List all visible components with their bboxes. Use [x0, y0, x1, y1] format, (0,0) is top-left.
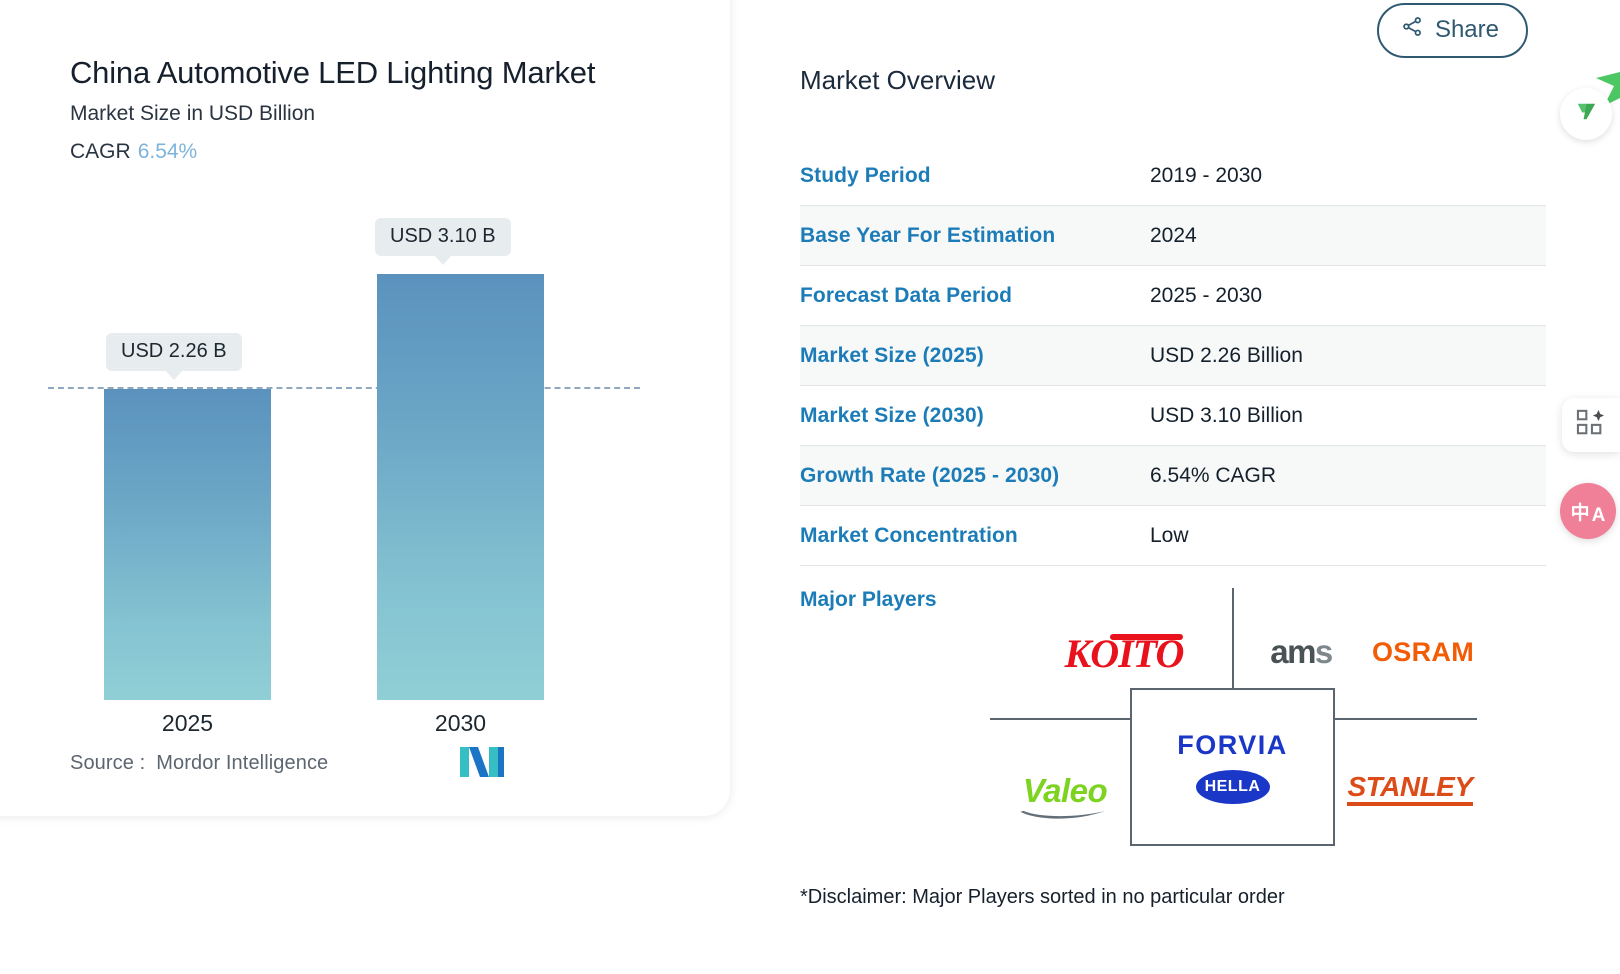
osram-logo-icon: OSRAM — [1372, 637, 1474, 668]
row-value-market-size-2025: USD 2.26 Billion — [1150, 344, 1303, 368]
source-row: Source : Mordor Intelligence — [70, 745, 570, 782]
row-value-growth-rate: 6.54% CAGR — [1150, 464, 1276, 488]
mordor-intelligence-logo-icon — [460, 745, 504, 782]
row-value-forecast-period: 2025 - 2030 — [1150, 284, 1262, 308]
source-label: Source : — [70, 752, 145, 775]
row-key-market-size-2025[interactable]: Market Size (2025) — [800, 344, 1150, 368]
chart-cagr: CAGR6.54% — [70, 140, 197, 164]
chart-subtitle: Market Size in USD Billion — [70, 102, 315, 126]
row-key-study-period[interactable]: Study Period — [800, 164, 1150, 188]
y-badge-button[interactable] — [1560, 88, 1612, 140]
row-value-base-year: 2024 — [1150, 224, 1197, 248]
table-row: Market Concentration Low — [800, 506, 1546, 566]
major-players-grid: KOITO ams OSRAM Valeo — [990, 566, 1490, 866]
row-key-market-concentration[interactable]: Market Concentration — [800, 524, 1150, 548]
player-logo-valeo[interactable]: Valeo — [1000, 756, 1130, 826]
translate-cn-glyph: 中 — [1571, 498, 1590, 525]
source-name: Mordor Intelligence — [156, 752, 328, 775]
table-row: Forecast Data Period 2025 - 2030 — [800, 266, 1546, 326]
hella-logo-icon: HELLA — [1196, 770, 1270, 804]
x-tick-2025: 2025 — [104, 710, 271, 737]
table-row: Market Size (2025) USD 2.26 Billion — [800, 326, 1546, 386]
cagr-value: 6.54% — [138, 140, 198, 163]
y-logo-icon — [1573, 98, 1600, 130]
row-key-growth-rate[interactable]: Growth Rate (2025 - 2030) — [800, 464, 1150, 488]
row-value-study-period: 2019 - 2030 — [1150, 164, 1262, 188]
major-players-label[interactable]: Major Players — [800, 588, 937, 612]
player-logo-forvia-hella[interactable]: FORVIA HELLA — [1130, 688, 1335, 846]
chart-plot-area: USD 2.26 B USD 3.10 B 2025 2030 — [70, 205, 630, 700]
stanley-logo-icon: STANLEY — [1347, 771, 1472, 803]
table-row: Growth Rate (2025 - 2030) 6.54% CAGR — [800, 446, 1546, 506]
report-page: China Automotive LED Lighting Market Mar… — [0, 0, 1620, 974]
market-overview-title: Market Overview — [800, 65, 995, 96]
koito-logo-icon: KOITO — [1065, 630, 1184, 677]
row-key-base-year[interactable]: Base Year For Estimation — [800, 224, 1150, 248]
player-logo-osram[interactable]: OSRAM — [1358, 622, 1488, 682]
chart-inner: China Automotive LED Lighting Market Mar… — [70, 0, 682, 796]
table-row: Base Year For Estimation 2024 — [800, 206, 1546, 266]
x-tick-2030: 2030 — [377, 710, 544, 737]
chart-card: China Automotive LED Lighting Market Mar… — [0, 0, 730, 816]
bar-2030[interactable] — [377, 274, 544, 700]
translate-button[interactable]: 中 A — [1560, 483, 1616, 539]
row-key-market-size-2030[interactable]: Market Size (2030) — [800, 404, 1150, 428]
player-logo-ams[interactable]: ams — [1246, 622, 1356, 682]
table-row: Study Period 2019 - 2030 — [800, 146, 1546, 206]
row-value-market-concentration: Low — [1150, 524, 1189, 548]
player-logo-stanley[interactable]: STANLEY — [1340, 754, 1480, 820]
data-label-2030: USD 3.10 B — [375, 218, 511, 256]
player-logo-koito[interactable]: KOITO — [1034, 618, 1214, 688]
market-overview-table: Study Period 2019 - 2030 Base Year For E… — [800, 146, 1546, 566]
share-nodes-icon — [1401, 15, 1424, 45]
bar-2025[interactable] — [104, 389, 271, 700]
row-key-forecast-period[interactable]: Forecast Data Period — [800, 284, 1150, 308]
forvia-logo-icon: FORVIA — [1177, 730, 1288, 761]
ams-logo-icon: ams — [1270, 633, 1332, 671]
qr-scan-button[interactable] — [1562, 398, 1620, 452]
share-button-label: Share — [1435, 16, 1499, 44]
major-players-section: Major Players KOITO ams OSRAM — [800, 566, 1560, 886]
share-button[interactable]: Share — [1377, 3, 1528, 58]
qr-sparkle-icon — [1576, 409, 1606, 442]
translate-en-glyph: A — [1592, 505, 1606, 527]
data-label-2025: USD 2.26 B — [106, 333, 242, 371]
chart-title: China Automotive LED Lighting Market — [70, 55, 595, 91]
valeo-logo-icon: Valeo — [1023, 772, 1107, 810]
cagr-label: CAGR — [70, 140, 131, 163]
table-row: Market Size (2030) USD 3.10 Billion — [800, 386, 1546, 446]
players-disclaimer: *Disclaimer: Major Players sorted in no … — [800, 886, 1285, 909]
row-value-market-size-2030: USD 3.10 Billion — [1150, 404, 1303, 428]
